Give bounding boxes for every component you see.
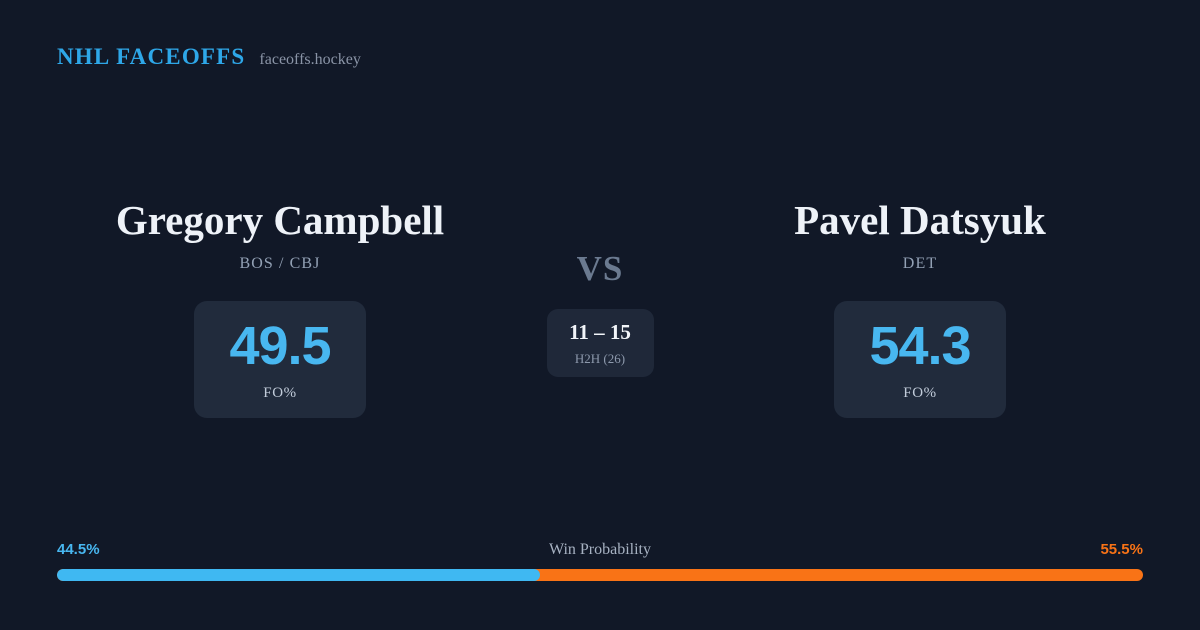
brand-domain: faceoffs.hockey: [259, 52, 360, 68]
win-probability-bar: [57, 569, 1143, 581]
win-probability-title: Win Probability: [549, 542, 651, 558]
faceoff-pct-left: 49.5: [229, 319, 330, 373]
faceoff-pct-label-right: FO%: [903, 386, 936, 401]
win-probability-labels: 44.5% Win Probability 55.5%: [57, 542, 1143, 560]
faceoff-pct-right: 54.3: [869, 319, 970, 373]
site-header: NHL FACEOFFS faceoffs.hockey: [57, 45, 361, 68]
player-card-left: Gregory Campbell BOS / CBJ 49.5 FO%: [40, 196, 520, 418]
head-to-head-card: 11 – 15 H2H (26): [547, 309, 654, 377]
win-probability-section: 44.5% Win Probability 55.5%: [57, 542, 1143, 581]
player-teams-right: DET: [903, 256, 937, 272]
versus-column: VS 11 – 15 H2H (26): [520, 196, 680, 377]
player-name-left: Gregory Campbell: [116, 196, 444, 244]
vs-label: VS: [577, 251, 624, 286]
win-probability-bar-left-fill: [57, 569, 540, 581]
player-name-right: Pavel Datsyuk: [794, 196, 1046, 244]
win-probability-left-value: 44.5%: [57, 542, 100, 557]
player-card-right: Pavel Datsyuk DET 54.3 FO%: [680, 196, 1160, 418]
matchup-section: Gregory Campbell BOS / CBJ 49.5 FO% VS 1…: [0, 196, 1200, 418]
faceoff-pct-label-left: FO%: [263, 386, 296, 401]
win-probability-right-value: 55.5%: [1100, 542, 1143, 557]
stat-card-left: 49.5 FO%: [194, 301, 366, 418]
brand-title: NHL FACEOFFS: [57, 45, 245, 68]
stat-card-right: 54.3 FO%: [834, 301, 1006, 418]
h2h-label: H2H (26): [575, 352, 625, 365]
h2h-record: 11 – 15: [569, 322, 631, 343]
player-teams-left: BOS / CBJ: [239, 256, 320, 272]
